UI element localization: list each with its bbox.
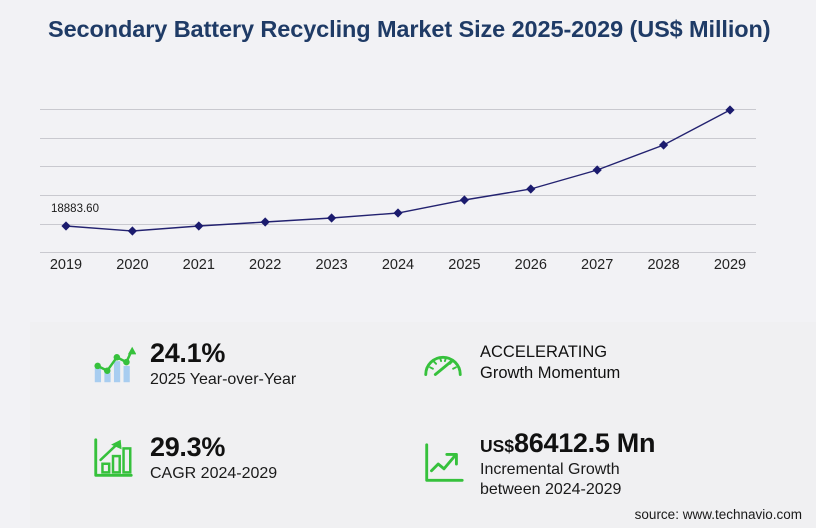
page-title: Secondary Battery Recycling Market Size … bbox=[48, 14, 778, 45]
stat-value: US$86412.5 Mn bbox=[480, 428, 655, 460]
data-point-2025[interactable] bbox=[460, 195, 469, 204]
data-point-2022[interactable] bbox=[261, 217, 270, 226]
stat-caption: 2025 Year-over-Year bbox=[150, 370, 296, 390]
data-point-2027[interactable] bbox=[593, 165, 602, 174]
x-axis-label-2029: 2029 bbox=[714, 257, 746, 273]
line-chart: 18883.60 2019202020212022202320242025202… bbox=[0, 95, 816, 280]
x-axis-label-2019: 2019 bbox=[50, 257, 82, 273]
line-chart-arrow-icon bbox=[420, 441, 466, 487]
data-point-2026[interactable] bbox=[526, 184, 535, 193]
data-point-2020[interactable] bbox=[128, 226, 137, 235]
stat-growth-momentum: ACCELERATING Growth Momentum bbox=[420, 340, 620, 386]
stat-text: 29.3% CAGR 2024-2029 bbox=[150, 432, 277, 484]
x-axis-label-2023: 2023 bbox=[315, 257, 347, 273]
stat-text: ACCELERATING Growth Momentum bbox=[480, 342, 620, 385]
stat-year-over-year: 24.1% 2025 Year-over-Year bbox=[90, 338, 296, 390]
speedometer-icon bbox=[420, 340, 466, 386]
stat-cagr: 29.3% CAGR 2024-2029 bbox=[90, 432, 277, 484]
stat-value: 24.1% bbox=[150, 338, 296, 370]
currency-unit: US$ bbox=[480, 436, 514, 456]
chart-plot-area: 18883.60 bbox=[40, 95, 756, 255]
infographic-root: Secondary Battery Recycling Market Size … bbox=[0, 0, 816, 528]
x-axis-label-2027: 2027 bbox=[581, 257, 613, 273]
growth-chart-icon bbox=[90, 435, 136, 481]
data-point-2023[interactable] bbox=[327, 213, 336, 222]
x-axis-label-2024: 2024 bbox=[382, 257, 414, 273]
data-point-2019[interactable] bbox=[61, 221, 70, 230]
x-axis-label-2028: 2028 bbox=[647, 257, 679, 273]
data-point-2029[interactable] bbox=[725, 105, 734, 114]
x-axis-label-2025: 2025 bbox=[448, 257, 480, 273]
chart-series-line bbox=[40, 95, 756, 255]
stat-caption-line2: between 2024-2029 bbox=[480, 480, 655, 500]
bar-chart-trend-icon bbox=[90, 341, 136, 387]
x-axis-label-2020: 2020 bbox=[116, 257, 148, 273]
x-axis-label-2026: 2026 bbox=[515, 257, 547, 273]
stat-text: 24.1% 2025 Year-over-Year bbox=[150, 338, 296, 390]
x-axis-label-2021: 2021 bbox=[183, 257, 215, 273]
stat-caption-line1: Incremental Growth bbox=[480, 460, 655, 480]
chart-data-label-2019: 18883.60 bbox=[51, 203, 99, 215]
stat-incremental-growth: US$86412.5 Mn Incremental Growth between… bbox=[420, 428, 655, 500]
stat-caption: CAGR 2024-2029 bbox=[150, 464, 277, 484]
chart-x-axis-labels: 2019202020212022202320242025202620272028… bbox=[40, 257, 756, 283]
source-attribution: source: www.technavio.com bbox=[635, 507, 802, 522]
value-number: 86412.5 Mn bbox=[514, 428, 655, 458]
stat-text: US$86412.5 Mn Incremental Growth between… bbox=[480, 428, 655, 500]
momentum-label: Growth Momentum bbox=[480, 363, 620, 384]
data-point-2024[interactable] bbox=[393, 208, 402, 217]
stat-value: 29.3% bbox=[150, 432, 277, 464]
data-point-2028[interactable] bbox=[659, 140, 668, 149]
momentum-status: ACCELERATING bbox=[480, 342, 620, 363]
data-point-2021[interactable] bbox=[194, 221, 203, 230]
x-axis-label-2022: 2022 bbox=[249, 257, 281, 273]
